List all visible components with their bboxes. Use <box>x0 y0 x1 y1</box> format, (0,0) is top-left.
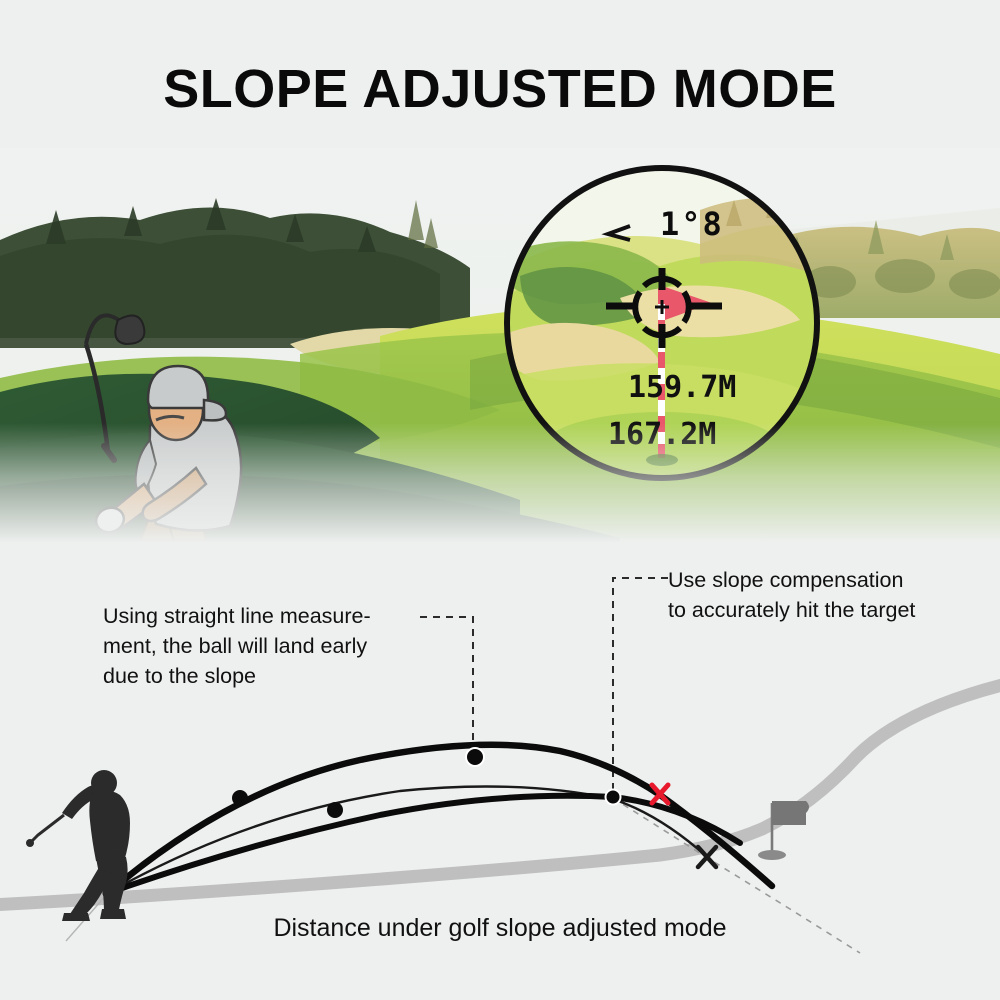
trajectory-dot-2 <box>466 748 484 766</box>
leader-line-right <box>613 578 668 793</box>
page-root: SLOPE ADJUSTED MODE <box>0 0 1000 1000</box>
trajectory-convergence-dot <box>606 790 621 805</box>
trajectory-dot-1 <box>232 790 248 806</box>
trajectory-dot-3 <box>327 802 343 818</box>
angle-readout: 1°8 <box>660 208 724 240</box>
straight-distance-readout: 159.7M <box>628 373 736 403</box>
leader-line-left <box>420 617 473 740</box>
hole-cup <box>758 850 786 860</box>
scene-illustration <box>0 148 1000 543</box>
slope-distance-readout: 167.2M <box>608 420 716 450</box>
golf-scene-photo: 1°8 159.7M 167.2M <box>0 148 1000 543</box>
bottom-caption: Distance under golf slope adjusted mode <box>0 914 1000 943</box>
page-title: SLOPE ADJUSTED MODE <box>0 58 1000 120</box>
